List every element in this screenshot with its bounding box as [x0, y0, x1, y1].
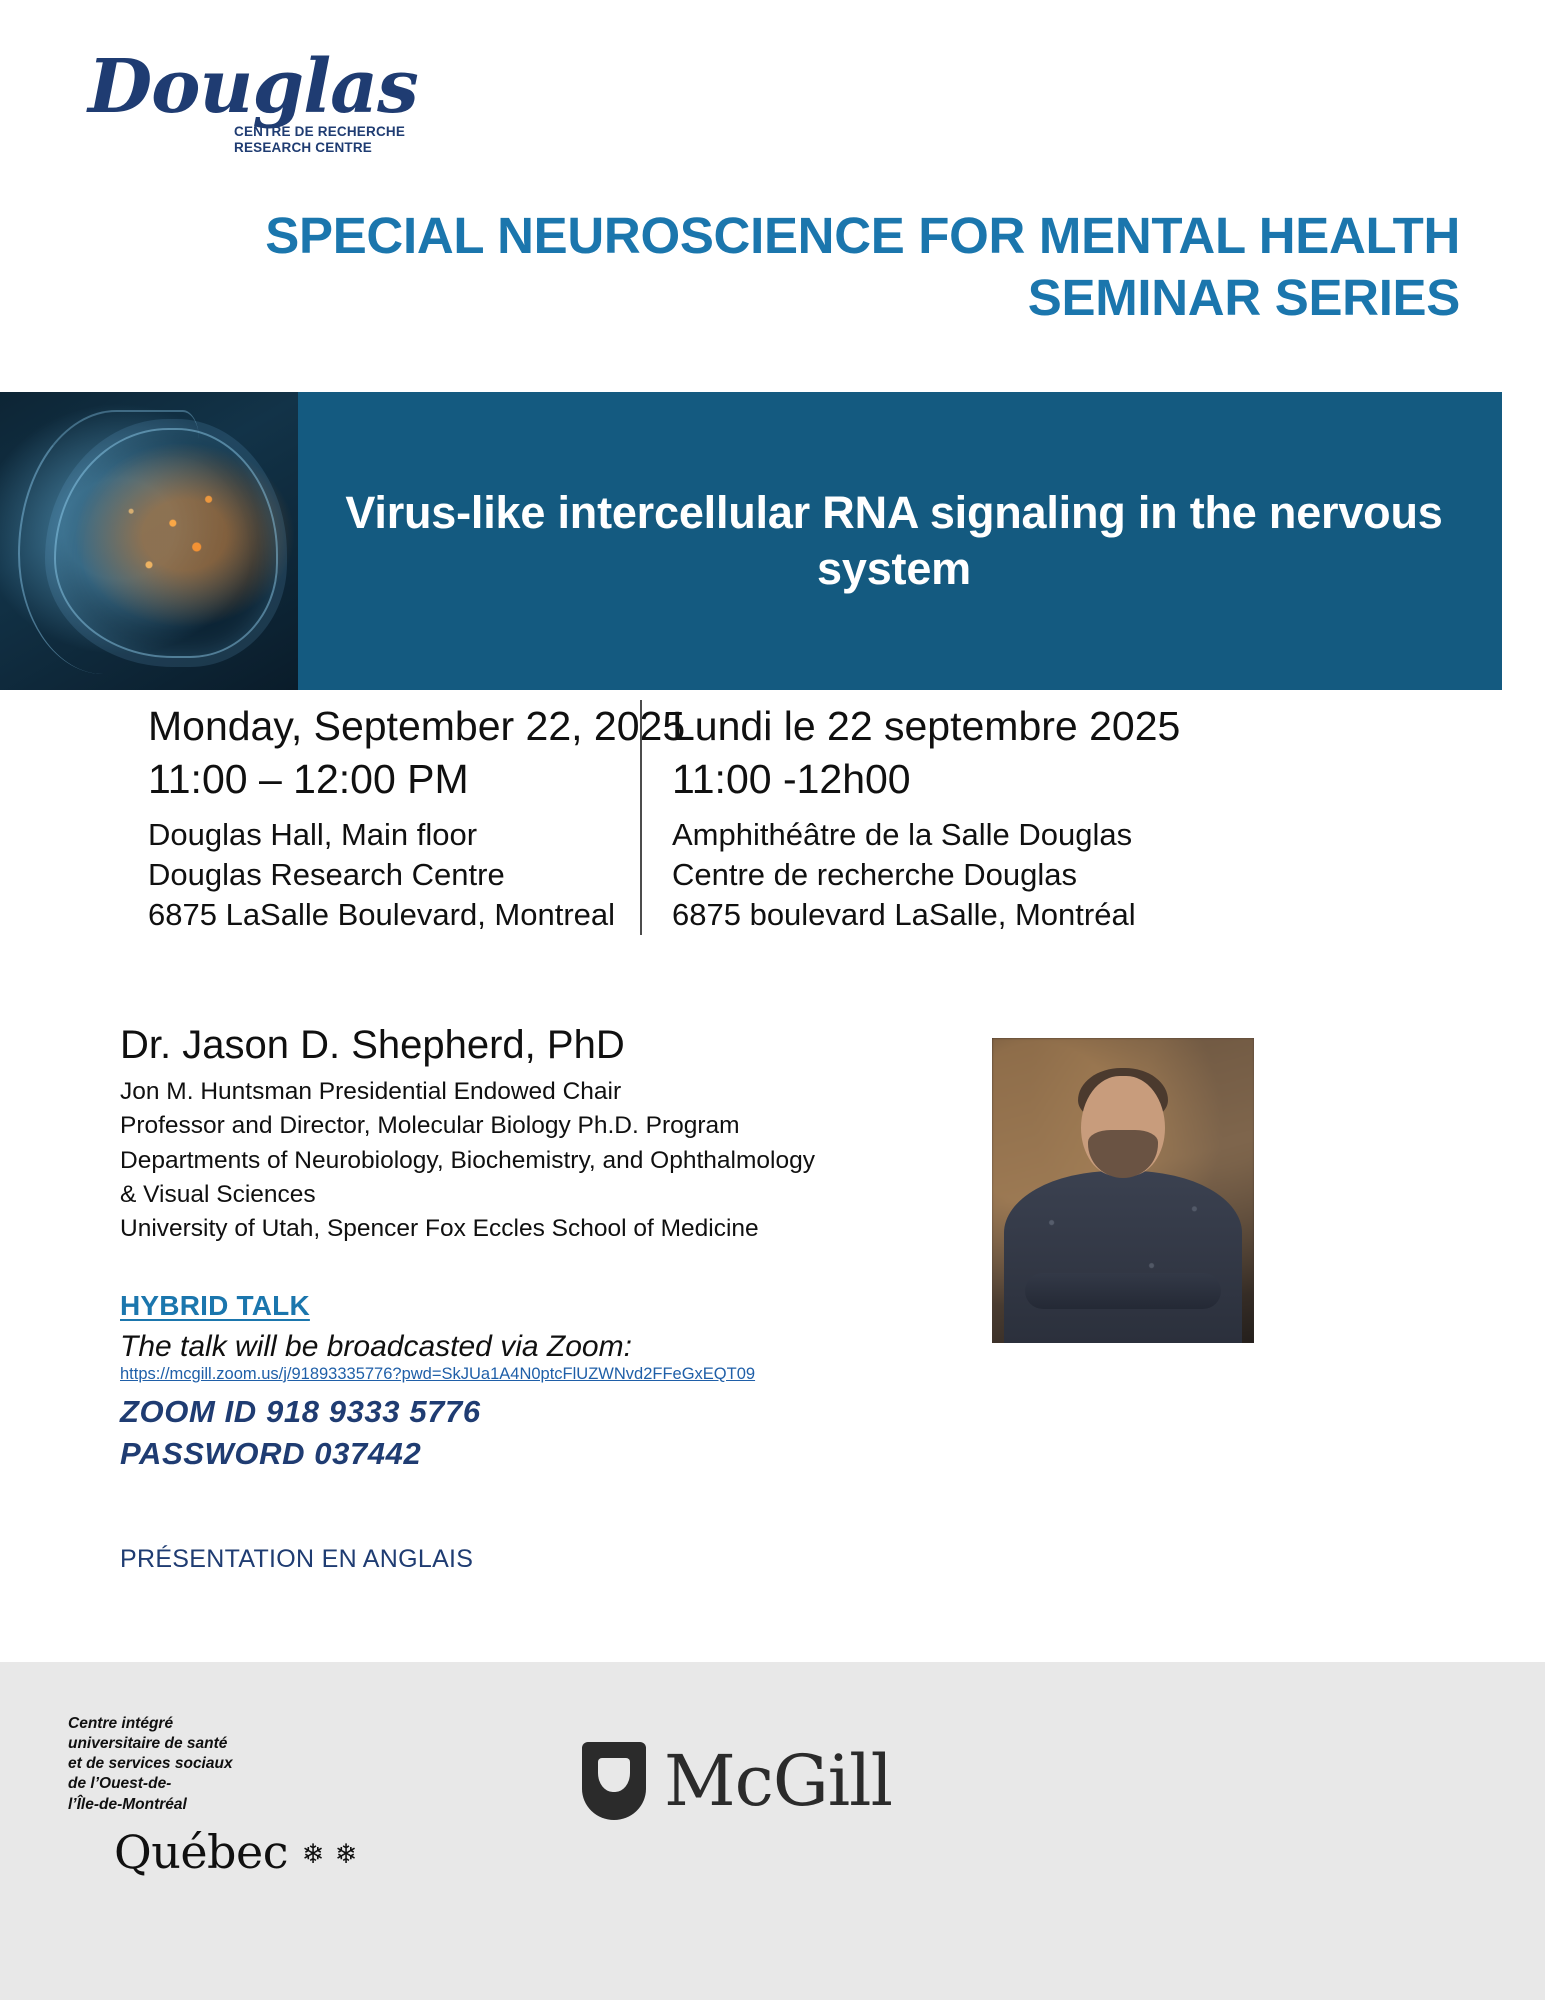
ciusss-quebec-logo: Centre intégré universitaire de santé et…	[68, 1714, 359, 1879]
brain-network-illustration	[0, 392, 298, 690]
portrait-shirt	[1004, 1171, 1242, 1343]
mcgill-shield-icon	[582, 1742, 646, 1820]
ciusss-line-1: Centre intégré	[68, 1714, 359, 1734]
speaker-block: Dr. Jason D. Shepherd, PhD Jon M. Huntsm…	[120, 1022, 1000, 1247]
fleur-de-lis-icon: ❄	[300, 1841, 326, 1867]
mcgill-logo: McGill	[582, 1740, 892, 1822]
hybrid-talk-heading: HYBRID TALK	[120, 1290, 1000, 1322]
series-heading-line2: SEMINAR SERIES	[60, 267, 1460, 329]
presentation-language-note: PRÉSENTATION EN ANGLAIS	[120, 1545, 473, 1574]
quebec-wordmark: Québec	[114, 1825, 288, 1879]
douglas-logo-subtitle: CENTRE DE RECHERCHE RESEARCH CENTRE	[234, 124, 508, 156]
series-heading: SPECIAL NEUROSCIENCE FOR MENTAL HEALTH S…	[60, 205, 1460, 329]
speaker-name: Dr. Jason D. Shepherd, PhD	[120, 1022, 1000, 1069]
event-time-fr: 11:00 -12h00	[672, 753, 1260, 806]
zoom-meeting-id: ZOOM ID 918 9333 5776	[120, 1391, 1000, 1433]
event-venue-en: Douglas Hall, Main floor	[148, 815, 640, 855]
event-date-fr: Lundi le 22 septembre 2025	[672, 700, 1260, 753]
douglas-logo: Douglas CENTRE DE RECHERCHE RESEARCH CEN…	[88, 52, 508, 156]
douglas-subtitle-fr: CENTRE DE RECHERCHE	[234, 124, 508, 140]
ciusss-text: Centre intégré universitaire de santé et…	[68, 1714, 359, 1815]
speaker-portrait	[992, 1038, 1254, 1343]
event-venue-fr: Amphithéâtre de la Salle Douglas	[672, 815, 1260, 855]
event-address-fr: 6875 boulevard LaSalle, Montréal	[672, 895, 1260, 935]
zoom-meeting-link[interactable]: https://mcgill.zoom.us/j/91893335776?pwd…	[120, 1365, 755, 1383]
event-institution-fr: Centre de recherche Douglas	[672, 855, 1260, 895]
hybrid-talk-block: HYBRID TALK The talk will be broadcasted…	[120, 1290, 1000, 1475]
ciusss-line-3: et de services sociaux	[68, 1754, 359, 1774]
douglas-wordmark: Douglas	[88, 52, 508, 122]
event-address-en: 6875 LaSalle Boulevard, Montreal	[148, 895, 640, 935]
quebec-logo: Québec ❄ ❄	[114, 1825, 359, 1879]
event-details-french: Lundi le 22 septembre 2025 11:00 -12h00 …	[640, 700, 1260, 935]
event-details: Monday, September 22, 2025 11:00 – 12:00…	[0, 700, 1400, 935]
event-time-en: 11:00 – 12:00 PM	[148, 753, 640, 806]
speaker-title-5: University of Utah, Spencer Fox Eccles S…	[120, 1212, 1000, 1246]
broadcast-note: The talk will be broadcasted via Zoom:	[120, 1330, 1000, 1364]
fleur-de-lis-icon: ❄	[333, 1841, 359, 1867]
footer-logos: Centre intégré universitaire de santé et…	[0, 1662, 1545, 2000]
zoom-password: PASSWORD 037442	[120, 1433, 1000, 1475]
talk-title: Virus-like intercellular RNA signaling i…	[298, 485, 1502, 597]
portrait-crossed-arms	[1025, 1273, 1221, 1309]
speaker-title-2: Professor and Director, Molecular Biolog…	[120, 1109, 1000, 1143]
fleur-de-lis-group: ❄ ❄	[300, 1841, 359, 1867]
ciusss-line-2: universitaire de santé	[68, 1734, 359, 1754]
event-institution-en: Douglas Research Centre	[148, 855, 640, 895]
douglas-subtitle-en: RESEARCH CENTRE	[234, 140, 508, 156]
seminar-poster: Douglas CENTRE DE RECHERCHE RESEARCH CEN…	[0, 0, 1545, 2000]
mcgill-wordmark: McGill	[664, 1740, 892, 1822]
talk-title-banner: Virus-like intercellular RNA signaling i…	[0, 392, 1502, 690]
ciusss-line-4: de l’Ouest-de-	[68, 1774, 359, 1794]
speaker-title-4: & Visual Sciences	[120, 1178, 1000, 1212]
ciusss-line-5: l’Île-de-Montréal	[68, 1795, 359, 1815]
speaker-title-3: Departments of Neurobiology, Biochemistr…	[120, 1144, 1000, 1178]
series-heading-line1: SPECIAL NEUROSCIENCE FOR MENTAL HEALTH	[60, 205, 1460, 267]
event-date-en: Monday, September 22, 2025	[148, 700, 640, 753]
speaker-title-1: Jon M. Huntsman Presidential Endowed Cha…	[120, 1075, 1000, 1109]
event-details-english: Monday, September 22, 2025 11:00 – 12:00…	[0, 700, 640, 935]
